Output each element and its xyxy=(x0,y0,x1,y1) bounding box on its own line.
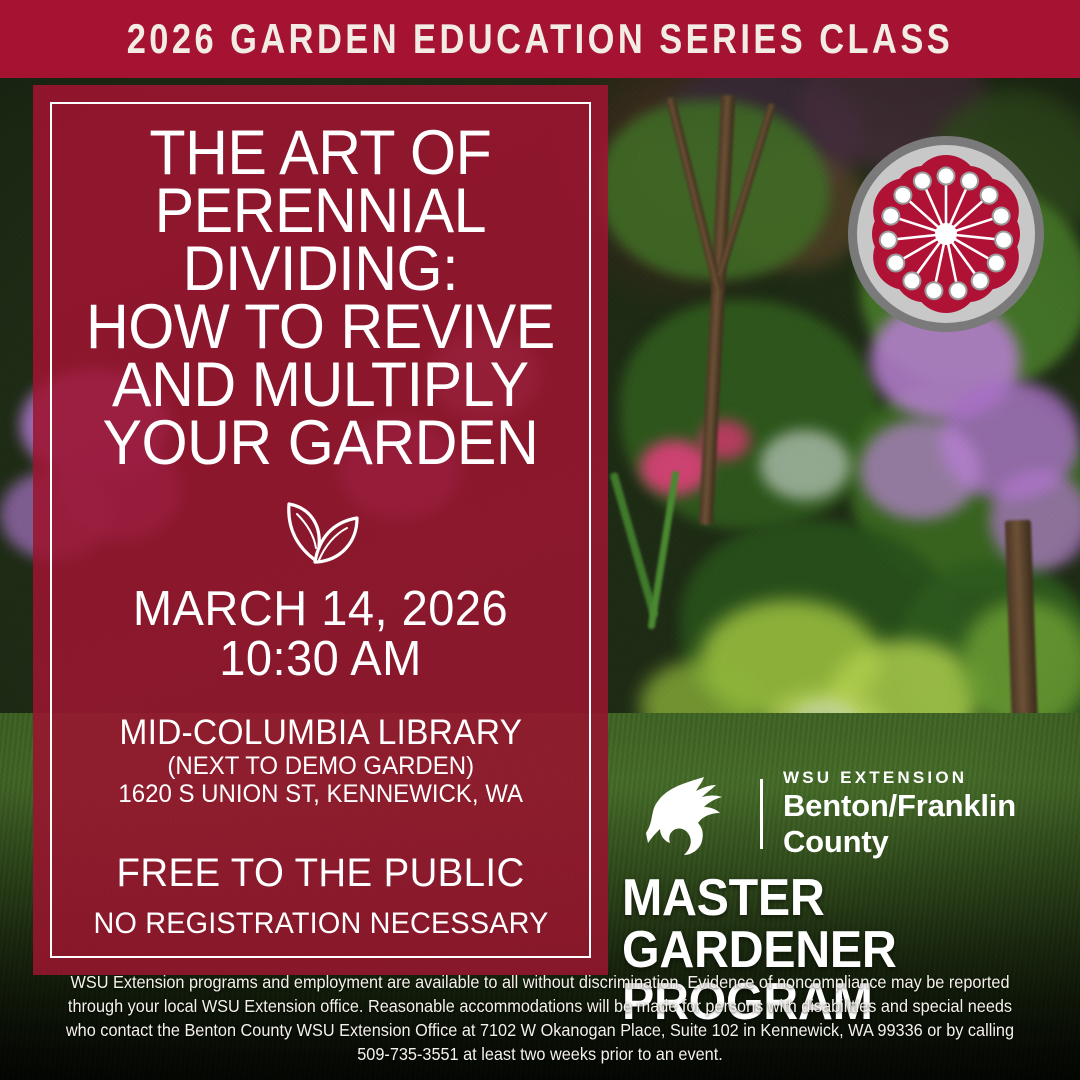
venue-name: MID-COLUMBIA LIBRARY xyxy=(119,714,522,752)
banner-title: 2026 GARDEN EDUCATION SERIES CLASS xyxy=(127,15,953,63)
wsu-extension-label: WSU EXTENSION xyxy=(783,768,1060,788)
top-banner: 2026 GARDEN EDUCATION SERIES CLASS xyxy=(0,0,1080,78)
cost-label: FREE TO THE PUBLIC xyxy=(116,851,524,895)
nondiscrimination-disclaimer: WSU Extension programs and employment ar… xyxy=(55,970,1026,1066)
master-gardener-flower-emblem xyxy=(846,134,1046,334)
event-date-time: MARCH 14, 2026 10:30 AM xyxy=(133,584,508,684)
event-title: THE ART OF PERENNIAL DIVIDING: HOW TO RE… xyxy=(86,124,555,472)
venue-note: (NEXT TO DEMO GARDEN) xyxy=(167,752,474,780)
wsu-cougar-head-icon xyxy=(640,771,748,857)
venue-address: 1620 S UNION ST, KENNEWICK, WA xyxy=(118,780,523,809)
event-flyer: 2026 GARDEN EDUCATION SERIES CLASS THE A… xyxy=(0,0,1080,1080)
wsu-extension-lockup: WSU EXTENSION Benton/Franklin County xyxy=(640,768,1060,860)
event-info-panel: THE ART OF PERENNIAL DIVIDING: HOW TO RE… xyxy=(33,85,608,975)
wsu-county-label: Benton/Franklin County xyxy=(783,788,1060,860)
registration-note: NO REGISTRATION NECESSARY xyxy=(93,907,548,940)
two-leaves-icon xyxy=(275,490,367,568)
lockup-divider xyxy=(760,779,763,849)
